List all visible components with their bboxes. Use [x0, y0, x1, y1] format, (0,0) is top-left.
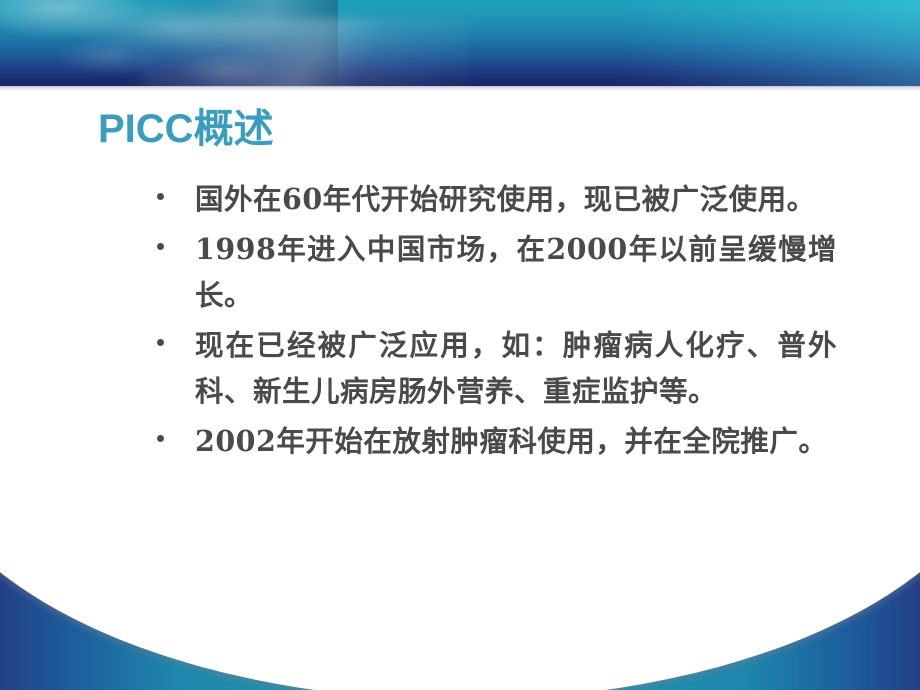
bullet-marker: [157, 322, 195, 346]
slide-title: PICC概述: [98, 106, 274, 153]
slide-footer-band: [0, 540, 920, 690]
bullet-marker: [157, 418, 195, 442]
list-item: 2002年开始在放射肿瘤科使用，并在全院推广。: [157, 418, 837, 464]
bullet-text: 1998年进入中国市场，在2000年以前呈缓慢增长。: [195, 226, 837, 318]
list-item: 国外在60年代开始研究使用，现已被广泛使用。: [157, 176, 837, 222]
list-item: 现在已经被广泛应用，如：肿瘤病人化疗、普外科、新生儿病房肠外营养、重症监护等。: [157, 322, 837, 414]
bullet-dot-icon: [157, 435, 164, 442]
bullet-marker: [157, 176, 195, 200]
bullet-dot-icon: [157, 243, 164, 250]
presentation-slide: PICC概述 国外在60年代开始研究使用，现已被广泛使用。 1998年进入中国市…: [0, 0, 920, 690]
bullet-text: 国外在60年代开始研究使用，现已被广泛使用。: [195, 176, 837, 222]
bullet-dot-icon: [157, 339, 164, 346]
list-item: 1998年进入中国市场，在2000年以前呈缓慢增长。: [157, 226, 837, 318]
bullet-text: 现在已经被广泛应用，如：肿瘤病人化疗、普外科、新生儿病房肠外营养、重症监护等。: [195, 322, 837, 414]
header-light-streak: [140, 18, 470, 86]
bullet-marker: [157, 226, 195, 250]
bullet-list: 国外在60年代开始研究使用，现已被广泛使用。 1998年进入中国市场，在2000…: [157, 176, 837, 468]
header-right-glow: [620, 0, 920, 86]
header-drop-shadow: [0, 86, 920, 94]
bullet-text: 2002年开始在放射肿瘤科使用，并在全院推广。: [195, 418, 837, 464]
footer-ellipse-shape: [0, 540, 920, 690]
slide-header-band: [0, 0, 920, 86]
bullet-dot-icon: [157, 193, 164, 200]
